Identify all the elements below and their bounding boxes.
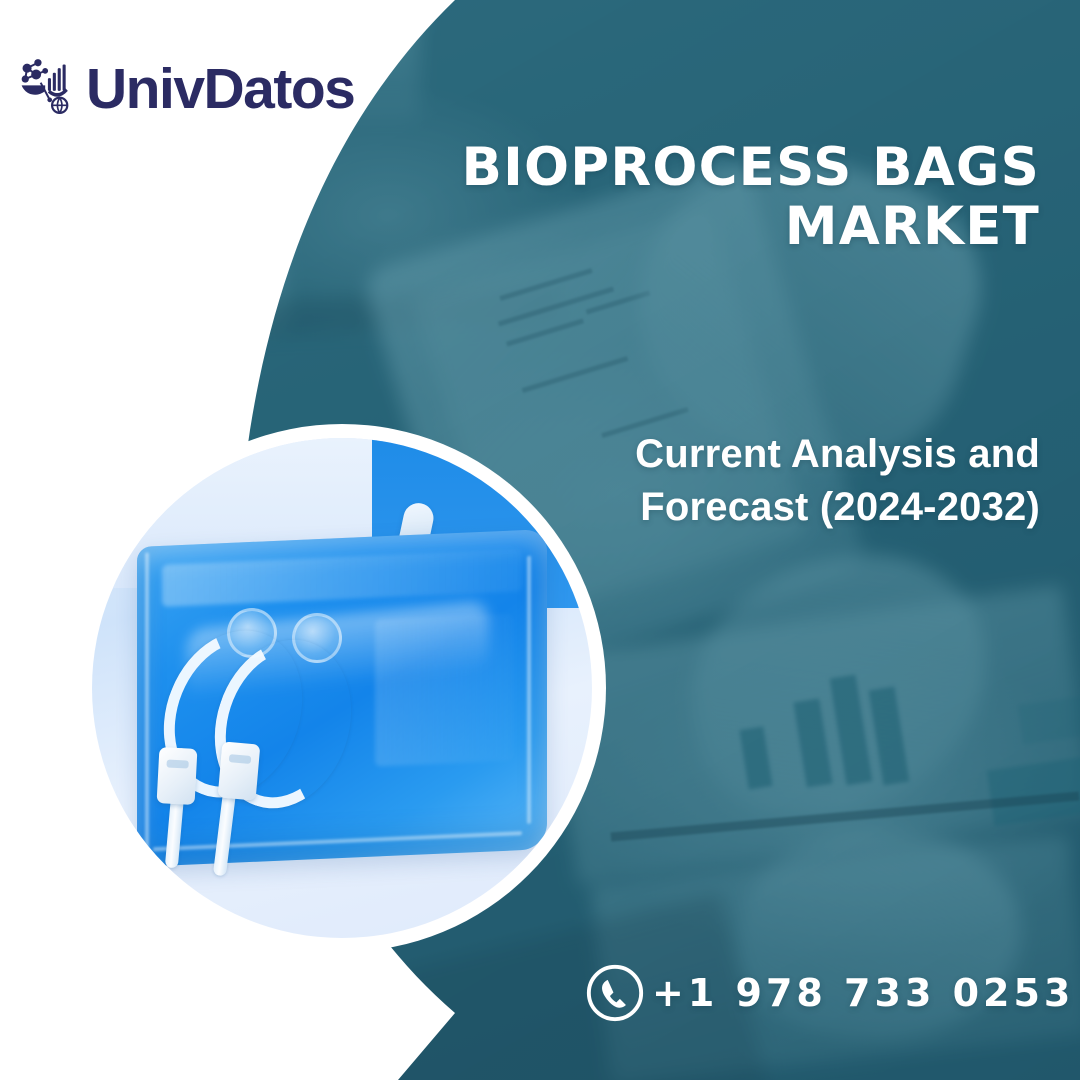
phone-handset-icon [584, 962, 646, 1024]
network-globe-chart-icon [18, 58, 76, 120]
bag-right-fold [375, 614, 514, 767]
bag-top-seam [162, 549, 523, 606]
product-image-bioprocess-bag [92, 438, 592, 938]
bag-bottom-edge [153, 831, 522, 851]
page-title: BIOPROCESS BAGS MARKET [400, 138, 1040, 257]
bag-clamp-right [217, 741, 260, 800]
page-title-line-1: BIOPROCESS BAGS [462, 137, 1041, 198]
page-title-line-2: MARKET [400, 197, 1040, 256]
contact-phone[interactable]: +1 978 733 0253 [584, 962, 1074, 1024]
bag-left-edge [145, 553, 149, 854]
contact-phone-number: +1 978 733 0253 [652, 971, 1074, 1015]
brand-logo-text: UnivDatos [86, 61, 354, 118]
brand-logo[interactable]: UnivDatos [18, 58, 354, 120]
bag-clamp-left [157, 747, 198, 805]
bag-right-edge [527, 555, 531, 824]
page-subtitle-line-1: Current Analysis and [635, 432, 1040, 476]
poster-canvas: UnivDatos BIOPROCESS BAGS MARKET Current… [0, 0, 1080, 1080]
product-image-circle-frame [78, 424, 606, 952]
